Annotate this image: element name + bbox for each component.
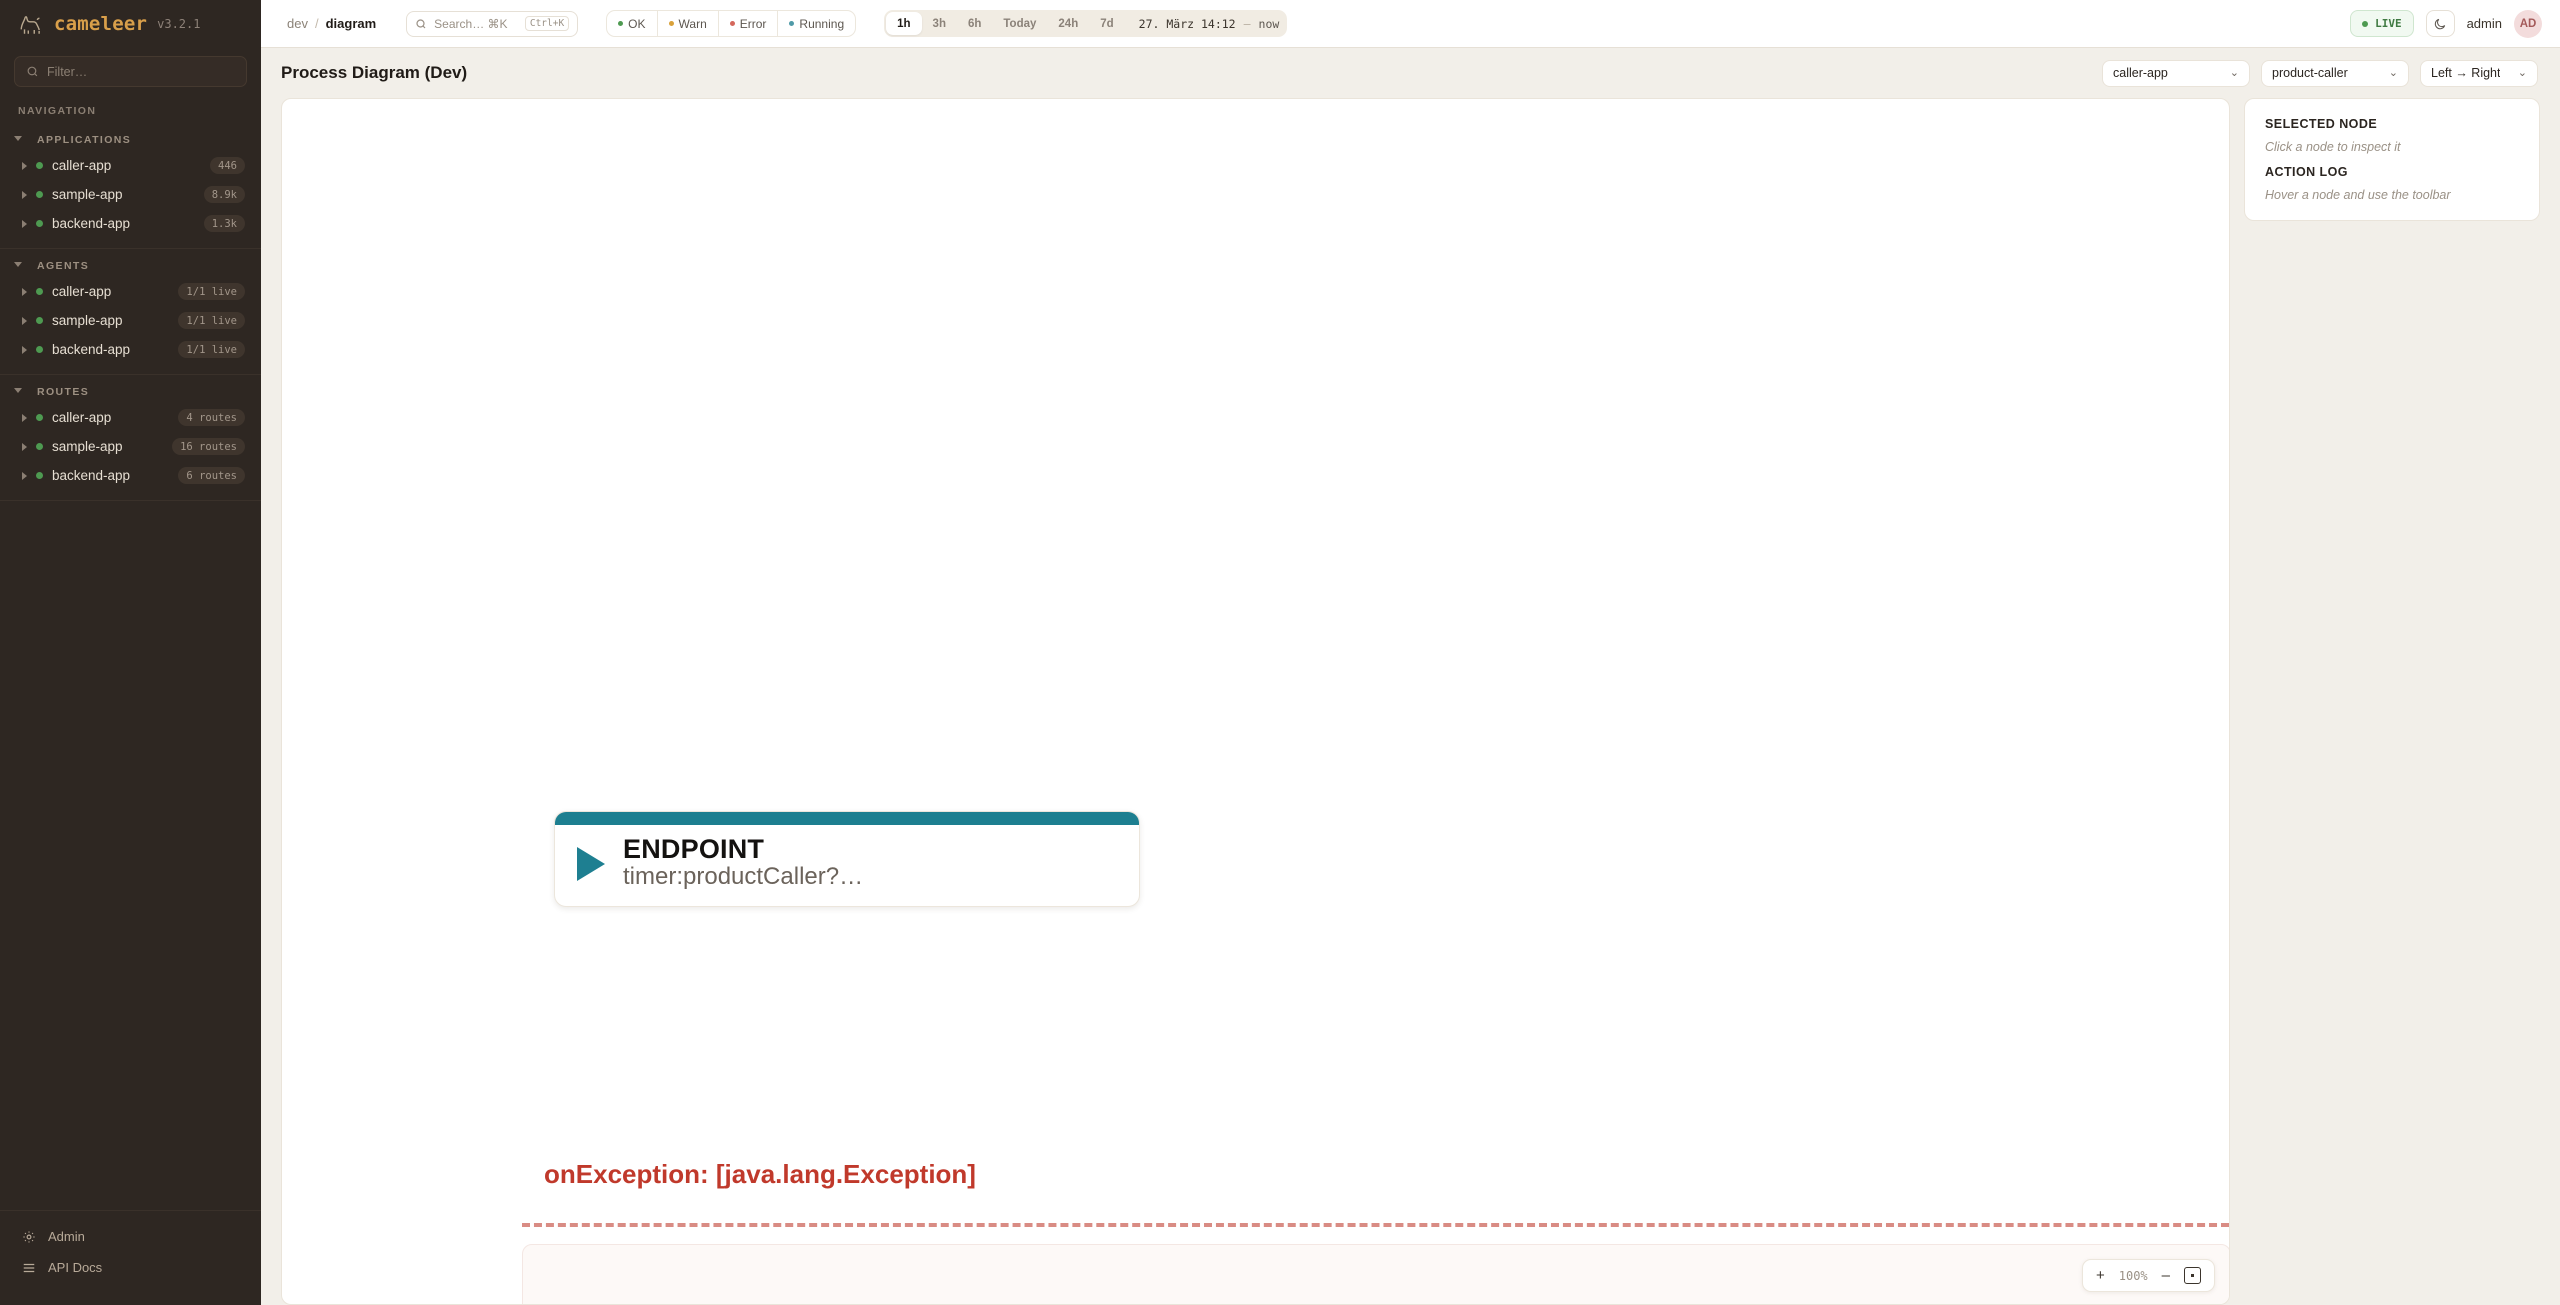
status-filter-group: OK Warn Error Running [606, 10, 856, 37]
status-filter-error[interactable]: Error [719, 11, 779, 36]
time-range-6h[interactable]: 6h [957, 12, 992, 35]
range-to: now [1259, 17, 1280, 31]
sidebar-item-applications-backend-app[interactable]: backend-app 1.3k [0, 209, 261, 238]
zoom-in-button[interactable]: + [2096, 1268, 2105, 1283]
inspector-panel: SELECTED NODE Click a node to inspect it… [2244, 98, 2540, 221]
time-range-1h[interactable]: 1h [886, 12, 921, 35]
range-dash: — [1244, 17, 1251, 31]
chevron-down-icon: ⌄ [2230, 68, 2239, 79]
live-dot-icon [2362, 21, 2368, 27]
sidebar-item-label: caller-app [52, 158, 111, 173]
live-toggle[interactable]: LIVE [2350, 10, 2414, 37]
page-header-controls: caller-app ⌄ product-caller ⌄ Left → Rig… [2102, 60, 2538, 87]
sidebar-item-badge: 1/1 live [178, 283, 245, 300]
sidebar-footer-label: API Docs [48, 1260, 102, 1275]
zoom-controls: + 100% – [2082, 1259, 2215, 1292]
status-dot [36, 414, 43, 421]
group-title: ROUTES [37, 386, 89, 398]
topbar: dev / diagram Search… ⌘K Ctrl+K OK Warn [261, 0, 2560, 48]
group-header-routes[interactable]: ROUTES [0, 381, 261, 403]
application-select[interactable]: caller-app ⌄ [2102, 60, 2250, 87]
status-dot-warn [669, 21, 674, 26]
sidebar-filter [0, 48, 261, 87]
time-range-group: 1h 3h 6h Today 24h 7d 27. März 14:12 — n… [884, 10, 1287, 37]
sidebar-footer: Admin API Docs [0, 1210, 261, 1305]
sidebar-item-label: caller-app [52, 284, 111, 299]
sidebar-item-label: backend-app [52, 216, 130, 231]
status-dot [36, 288, 43, 295]
moon-icon [2433, 17, 2447, 31]
exception-divider [522, 1223, 2229, 1227]
navigation-label: NAVIGATION [0, 87, 261, 123]
node-body: ENDPOINT timer:productCaller?… [555, 825, 1139, 906]
time-range-display[interactable]: 27. März 14:12 — now [1125, 17, 1286, 31]
sidebar-item-applications-caller-app[interactable]: caller-app 446 [0, 151, 261, 180]
chevron-right-icon [22, 317, 27, 325]
search-icon [26, 65, 39, 78]
status-dot-error [730, 21, 735, 26]
status-filter-ok[interactable]: OK [607, 11, 657, 36]
topbar-right: LIVE admin AD [2350, 10, 2542, 38]
status-dot [36, 346, 43, 353]
page-title: Process Diagram (Dev) [281, 63, 467, 83]
diagram-canvas[interactable]: ENDPOINT timer:productCaller?… onExcepti… [281, 98, 2230, 1305]
status-filter-label: OK [628, 17, 645, 31]
status-dot [36, 220, 43, 227]
group-title: APPLICATIONS [37, 134, 131, 146]
sidebar-group-agents: AGENTS caller-app 1/1 live sample-app 1/… [0, 249, 261, 375]
sidebar-item-label: sample-app [52, 313, 123, 328]
sidebar-item-routes-sample-app[interactable]: sample-app 16 routes [0, 432, 261, 461]
route-select[interactable]: product-caller ⌄ [2261, 60, 2409, 87]
search-icon [415, 18, 427, 30]
zoom-level-label: 100% [2119, 1269, 2148, 1283]
exception-zone [522, 1244, 2230, 1305]
main-area: dev / diagram Search… ⌘K Ctrl+K OK Warn [261, 0, 2560, 1305]
breadcrumb-separator: / [315, 16, 319, 31]
play-icon [577, 847, 605, 881]
time-range-today[interactable]: Today [992, 12, 1047, 35]
chevron-down-icon [14, 388, 22, 393]
sidebar-item-badge: 8.9k [204, 186, 245, 203]
chevron-right-icon [22, 191, 27, 199]
filter-input[interactable] [47, 65, 235, 79]
time-range-3h[interactable]: 3h [922, 12, 957, 35]
time-range-24h[interactable]: 24h [1047, 12, 1089, 35]
sidebar-item-agents-backend-app[interactable]: backend-app 1/1 live [0, 335, 261, 364]
status-filter-running[interactable]: Running [778, 11, 855, 36]
route-select-value: product-caller [2272, 66, 2348, 80]
chevron-down-icon [14, 136, 22, 141]
node-text: ENDPOINT timer:productCaller?… [623, 835, 863, 892]
chevron-right-icon [22, 472, 27, 480]
live-label: LIVE [2375, 17, 2402, 30]
status-filter-label: Warn [679, 17, 707, 31]
status-dot [36, 472, 43, 479]
chevron-right-icon [22, 346, 27, 354]
exception-handler-label: onException: [java.lang.Exception] [544, 1159, 976, 1190]
search-input[interactable]: Search… ⌘K Ctrl+K [406, 11, 578, 37]
sidebar-group-routes: ROUTES caller-app 4 routes sample-app 16… [0, 375, 261, 501]
sidebar-item-badge: 446 [210, 157, 245, 174]
page-header: Process Diagram (Dev) caller-app ⌄ produ… [261, 48, 2560, 98]
sidebar-footer-label: Admin [48, 1229, 85, 1244]
direction-select[interactable]: Left → Right ⌄ [2420, 60, 2538, 87]
sidebar-item-api-docs[interactable]: API Docs [0, 1252, 261, 1283]
chevron-right-icon [22, 414, 27, 422]
sidebar-group-applications: APPLICATIONS caller-app 446 sample-app 8… [0, 123, 261, 249]
page-body: ENDPOINT timer:productCaller?… onExcepti… [261, 98, 2560, 1305]
sidebar-item-label: sample-app [52, 439, 123, 454]
action-log-hint: Hover a node and use the toolbar [2265, 188, 2519, 202]
status-filter-label: Running [799, 17, 844, 31]
sidebar-item-label: backend-app [52, 342, 130, 357]
sidebar: cameleer v3.2.1 NAVIGATION APPLICATIONS … [0, 0, 261, 1305]
menu-icon [22, 1261, 36, 1275]
status-filter-label: Error [740, 17, 767, 31]
range-from: 27. März 14:12 [1139, 17, 1236, 31]
sidebar-item-badge: 6 routes [178, 467, 245, 484]
group-header-applications[interactable]: APPLICATIONS [0, 129, 261, 151]
chevron-right-icon [22, 288, 27, 296]
sidebar-item-badge: 16 routes [172, 438, 245, 455]
fit-to-screen-icon[interactable] [2184, 1267, 2201, 1284]
brand-name: cameleer [54, 13, 147, 35]
brand[interactable]: cameleer v3.2.1 [0, 0, 261, 48]
app-root: cameleer v3.2.1 NAVIGATION APPLICATIONS … [0, 0, 2560, 1305]
action-log-title: ACTION LOG [2265, 165, 2519, 179]
sidebar-item-agents-caller-app[interactable]: caller-app 1/1 live [0, 277, 261, 306]
group-title: AGENTS [37, 260, 89, 272]
status-dot [36, 191, 43, 198]
sidebar-item-label: backend-app [52, 468, 130, 483]
breadcrumb-parent[interactable]: dev [287, 16, 308, 31]
chevron-right-icon [22, 443, 27, 451]
direction-select-value: Left → Right [2431, 66, 2500, 80]
theme-toggle-button[interactable] [2426, 10, 2455, 37]
brand-version: v3.2.1 [157, 17, 200, 31]
gear-icon [22, 1230, 36, 1244]
user-name: admin [2467, 16, 2502, 31]
search-shortcut-badge: Ctrl+K [525, 16, 569, 31]
status-dot-running [789, 21, 794, 26]
selected-node-hint: Click a node to inspect it [2265, 140, 2519, 154]
node-type-bar [555, 812, 1139, 825]
sidebar-spacer [0, 501, 261, 1210]
node-kind-label: ENDPOINT [623, 835, 863, 863]
status-dot [36, 443, 43, 450]
sidebar-item-applications-sample-app[interactable]: sample-app 8.9k [0, 180, 261, 209]
breadcrumb: dev / diagram [287, 16, 376, 31]
status-filter-warn[interactable]: Warn [658, 11, 719, 36]
zoom-out-button[interactable]: – [2162, 1268, 2170, 1283]
status-dot [36, 317, 43, 324]
sidebar-item-routes-caller-app[interactable]: caller-app 4 routes [0, 403, 261, 432]
avatar[interactable]: AD [2514, 10, 2542, 38]
sidebar-item-admin[interactable]: Admin [0, 1221, 261, 1252]
selected-node-title: SELECTED NODE [2265, 117, 2519, 131]
search-placeholder: Search… ⌘K [434, 17, 507, 31]
chevron-down-icon: ⌄ [2389, 68, 2398, 79]
chevron-right-icon [22, 220, 27, 228]
application-select-value: caller-app [2113, 66, 2168, 80]
sidebar-item-label: caller-app [52, 410, 111, 425]
sidebar-item-badge: 1/1 live [178, 341, 245, 358]
sidebar-item-label: sample-app [52, 187, 123, 202]
chevron-down-icon: ⌄ [2518, 68, 2527, 79]
group-header-agents[interactable]: AGENTS [0, 255, 261, 277]
sidebar-item-badge: 1.3k [204, 215, 245, 232]
sidebar-item-routes-backend-app[interactable]: backend-app 6 routes [0, 461, 261, 490]
sidebar-item-badge: 1/1 live [178, 312, 245, 329]
chevron-down-icon [14, 262, 22, 267]
node-uri-label: timer:productCaller?… [623, 863, 863, 892]
sidebar-item-badge: 4 routes [178, 409, 245, 426]
sidebar-item-agents-sample-app[interactable]: sample-app 1/1 live [0, 306, 261, 335]
status-dot-ok [618, 21, 623, 26]
status-dot [36, 162, 43, 169]
filter-box[interactable] [14, 56, 247, 87]
time-range-7d[interactable]: 7d [1089, 12, 1124, 35]
breadcrumb-current: diagram [326, 16, 377, 31]
diagram-node-endpoint[interactable]: ENDPOINT timer:productCaller?… [554, 811, 1140, 907]
camel-icon [18, 11, 44, 37]
chevron-right-icon [22, 162, 27, 170]
